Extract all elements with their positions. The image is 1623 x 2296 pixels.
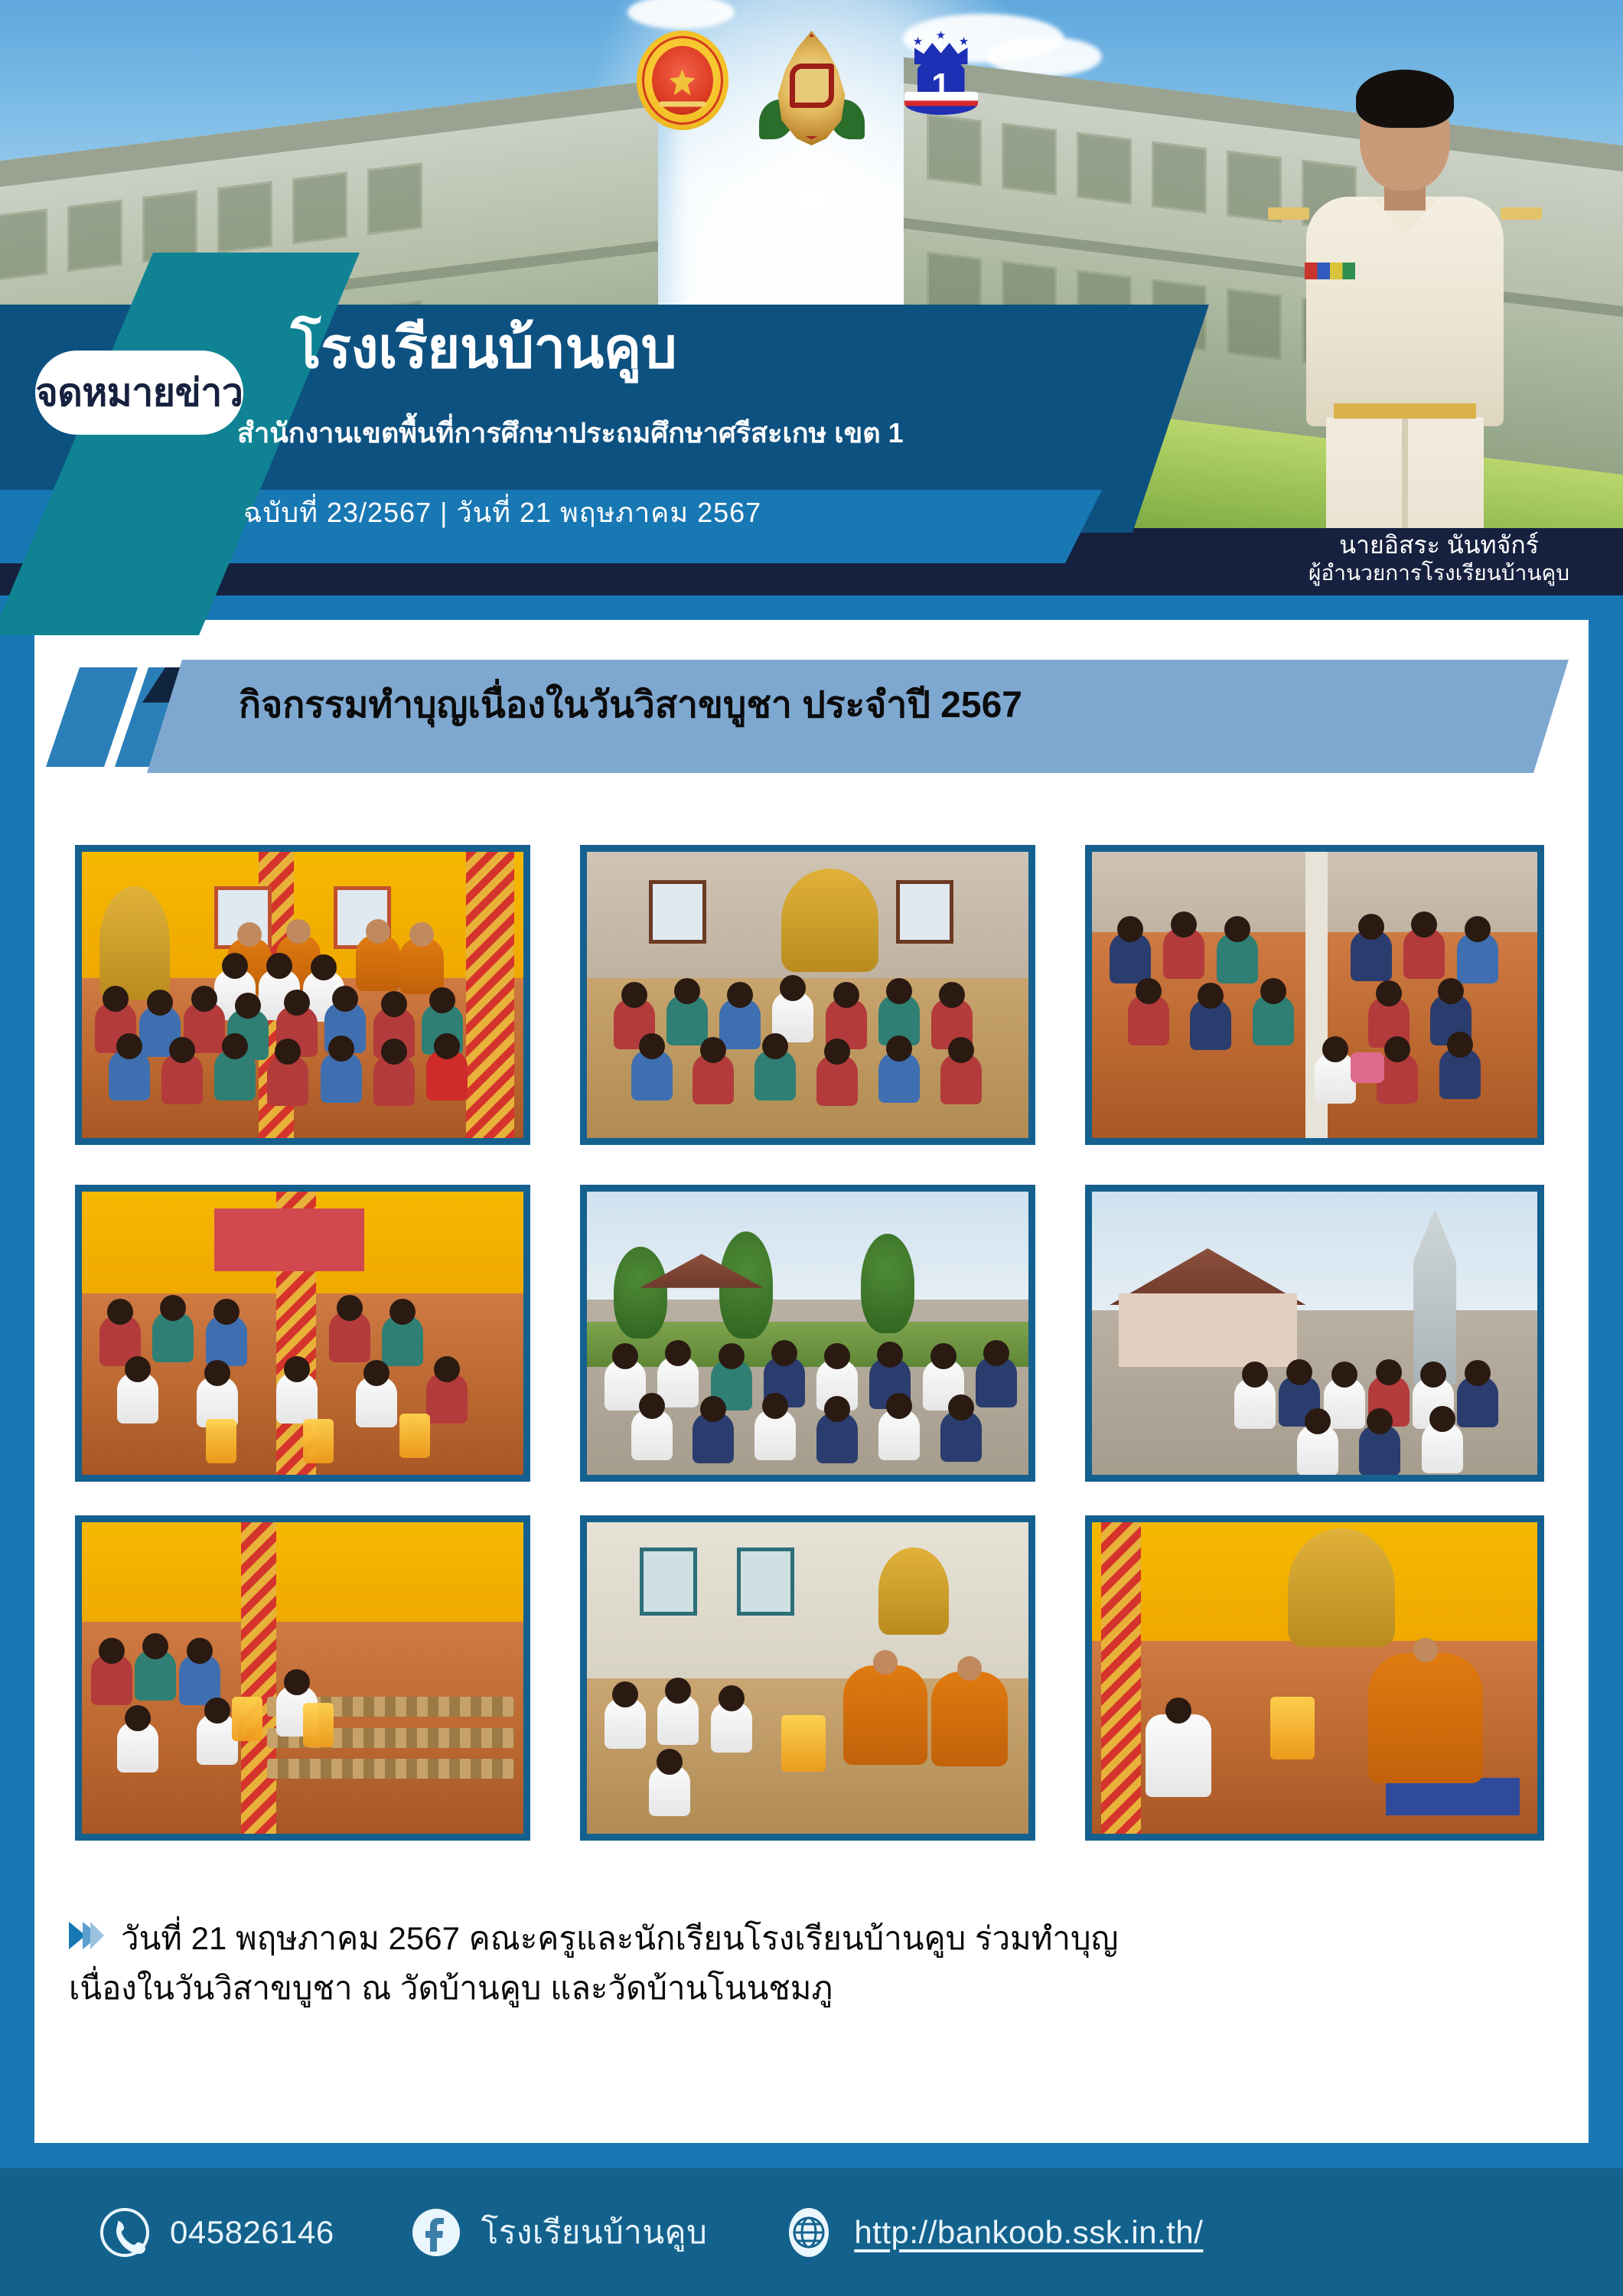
caption-line-2: เนื่องในวันวิสาขบูชา ณ วัดบ้านคูบ และวัด… [69, 1970, 833, 2006]
activity-title-banner: กิจกรรมทำบุญเนื่องในวันวิสาขบูชา ประจำปี… [46, 660, 1569, 775]
footer-website[interactable]: http://bankoob.ssk.in.th/ [784, 2207, 1203, 2258]
footer-facebook: โรงเรียนบ้านคูบ [411, 2207, 708, 2258]
gallery-photo-2 [580, 845, 1035, 1145]
newsletter-badge-label: จดหมายข่าว [36, 373, 243, 412]
gallery-photo-6 [1085, 1185, 1544, 1482]
footer-phone: 045826146 [99, 2207, 334, 2258]
logo-row: 1 [0, 31, 1623, 145]
gallery-photo-3 [1085, 845, 1544, 1145]
gallery-photo-4 [75, 1185, 530, 1482]
education-office-label: สำนักงานเขตพื้นที่การศึกษาประถมศึกษาศรีส… [237, 418, 904, 448]
issue-and-date-label: ฉบับที่ 23/2567 | วันที่ 21 พฤษภาคม 2567 [243, 497, 761, 528]
activity-caption: วันที่ 21 พฤษภาคม 2567 คณะครูและนักเรียน… [69, 1913, 1553, 2013]
facebook-icon [411, 2207, 461, 2258]
newsletter-badge: จดหมายข่าว [35, 351, 243, 435]
gallery-photo-1 [75, 845, 530, 1145]
globe-icon [784, 2207, 834, 2258]
school-name-title: โรงเรียนบ้านคูบ [291, 318, 676, 378]
director-name-label: นายอิสระ นันทจักร์ [1309, 531, 1569, 560]
director-title-label: ผู้อำนวยการโรงเรียนบ้านคูบ [1309, 560, 1569, 585]
quality-school-logo: 1 [895, 31, 987, 132]
website-url-link[interactable]: http://bankoob.ssk.in.th/ [854, 2214, 1203, 2251]
gallery-photo-5 [580, 1185, 1035, 1482]
phone-number-label: 045826146 [170, 2214, 334, 2251]
activity-title-label: กิจกรรมทำบุญเนื่องในวันวิสาขบูชา ประจำปี… [239, 687, 1022, 724]
phone-icon [99, 2207, 150, 2258]
caption-line-1: วันที่ 21 พฤษภาคม 2567 คณะครูและนักเรียน… [121, 1920, 1118, 1956]
director-caption: นายอิสระ นันทจักร์ ผู้อำนวยการโรงเรียนบ้… [1309, 531, 1569, 585]
gallery-photo-7 [75, 1515, 530, 1841]
ministry-of-education-logo [754, 31, 869, 145]
gallery-photo-8 [580, 1515, 1035, 1841]
double-chevron-right-icon [69, 1915, 104, 1945]
gallery-photo-9 [1085, 1515, 1544, 1841]
footer-bar: 045826146 โรงเรียนบ้านคูบ [0, 2168, 1623, 2296]
school-seal-logo [637, 31, 728, 130]
facebook-page-label: โรงเรียนบ้านคูบ [481, 2207, 708, 2258]
